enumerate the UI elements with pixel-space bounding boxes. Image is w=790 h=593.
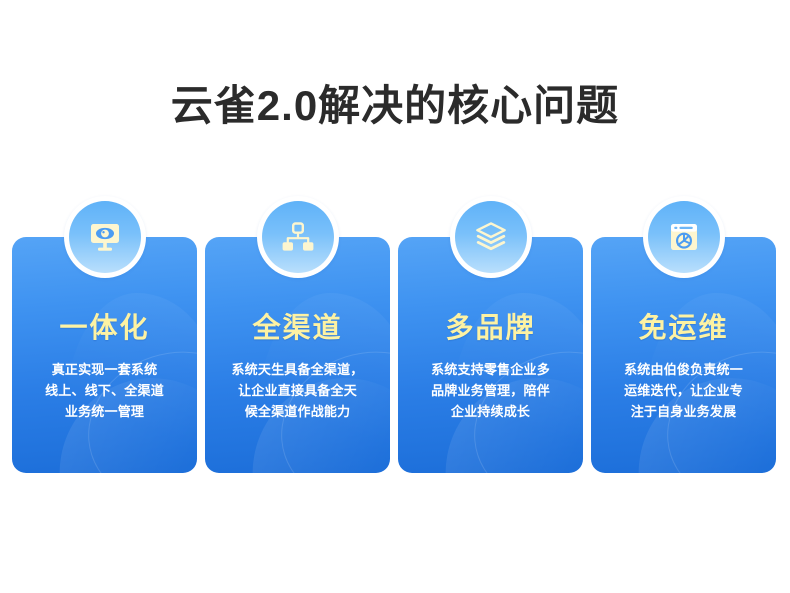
feature-card-3[interactable]: 多品牌 系统支持零售企业多 品牌业务管理，陪伴 企业持续成长	[398, 196, 583, 486]
feature-card-2[interactable]: 全渠道 系统天生具备全渠道， 让企业直接具备全天 候全渠道作战能力	[205, 196, 390, 486]
card-heading-1: 一体化	[12, 311, 197, 345]
card-desc-line: 让企业直接具备全天	[217, 380, 378, 401]
card-desc-line: 注于自身业务发展	[603, 401, 764, 422]
card-desc-line: 真正实现一套系统	[24, 359, 185, 380]
icon-circle-1	[69, 201, 141, 273]
card-desc-line: 线上、线下、全渠道	[24, 380, 185, 401]
card-desc-line: 系统天生具备全渠道，	[217, 359, 378, 380]
icon-badge-4	[643, 196, 725, 278]
infographic-page: 云雀2.0解决的核心问题	[0, 0, 790, 593]
card-desc-line: 系统由伯俊负责统一	[603, 359, 764, 380]
browser-globe-icon	[664, 217, 704, 257]
page-title: 云雀2.0解决的核心问题	[0, 80, 790, 132]
card-heading-2: 全渠道	[205, 311, 390, 345]
feature-card-row: 一体化 真正实现一套系统 线上、线下、全渠道 业务统一管理	[12, 196, 778, 486]
icon-circle-3	[455, 201, 527, 273]
card-desc-line: 企业持续成长	[410, 401, 571, 422]
card-desc-line: 业务统一管理	[24, 401, 185, 422]
card-description-2: 系统天生具备全渠道， 让企业直接具备全天 候全渠道作战能力	[205, 359, 390, 422]
card-description-4: 系统由伯俊负责统一 运维迭代，让企业专 注于自身业务发展	[591, 359, 776, 422]
card-desc-line: 系统支持零售企业多	[410, 359, 571, 380]
card-heading-4: 免运维	[591, 311, 776, 345]
card-heading-3: 多品牌	[398, 311, 583, 345]
card-description-3: 系统支持零售企业多 品牌业务管理，陪伴 企业持续成长	[398, 359, 583, 422]
sitemap-icon	[278, 217, 318, 257]
icon-circle-2	[262, 201, 334, 273]
feature-card-4[interactable]: 免运维 系统由伯俊负责统一 运维迭代，让企业专 注于自身业务发展	[591, 196, 776, 486]
card-desc-line: 品牌业务管理，陪伴	[410, 380, 571, 401]
card-desc-line: 候全渠道作战能力	[217, 401, 378, 422]
feature-card-1[interactable]: 一体化 真正实现一套系统 线上、线下、全渠道 业务统一管理	[12, 196, 197, 486]
monitor-eye-icon	[85, 217, 125, 257]
layers-icon	[471, 217, 511, 257]
card-desc-line: 运维迭代，让企业专	[603, 380, 764, 401]
icon-badge-2	[257, 196, 339, 278]
card-description-1: 真正实现一套系统 线上、线下、全渠道 业务统一管理	[12, 359, 197, 422]
icon-badge-3	[450, 196, 532, 278]
icon-circle-4	[648, 201, 720, 273]
icon-badge-1	[64, 196, 146, 278]
